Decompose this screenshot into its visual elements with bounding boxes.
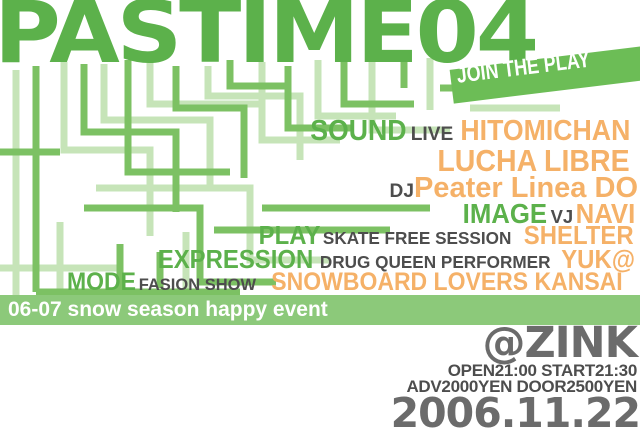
lineup-artist: HITOMICHAN bbox=[461, 117, 631, 146]
sponsor-logos: DEELUXE PO1® U UNION BINDING COMPANY bbox=[0, 330, 330, 432]
lineup-category: SOUND bbox=[310, 117, 406, 146]
lineup-artist: SNOWBOARD LOVERS KANSAI bbox=[271, 270, 622, 295]
lineup-role: SKATE FREE SESSION bbox=[323, 228, 511, 248]
lineup-role: FASION SHOW bbox=[139, 276, 256, 294]
event-flyer: PASTIME04 JOIN THE PLAY SOUNDLIVEHITOMIC… bbox=[0, 0, 640, 432]
lineup-role: LIVE bbox=[411, 124, 454, 145]
lineup-role: DJ bbox=[390, 181, 414, 202]
lineup-category: MODE bbox=[67, 270, 136, 295]
venue-name: @ZINK bbox=[483, 322, 638, 365]
lineup-row: MODEFASION SHOWSNOWBOARD LOVERS KANSAI bbox=[0, 270, 638, 298]
event-date: 2006.11.22 bbox=[391, 392, 640, 432]
season-banner-label: 06-07 snow season happy event bbox=[8, 298, 328, 322]
